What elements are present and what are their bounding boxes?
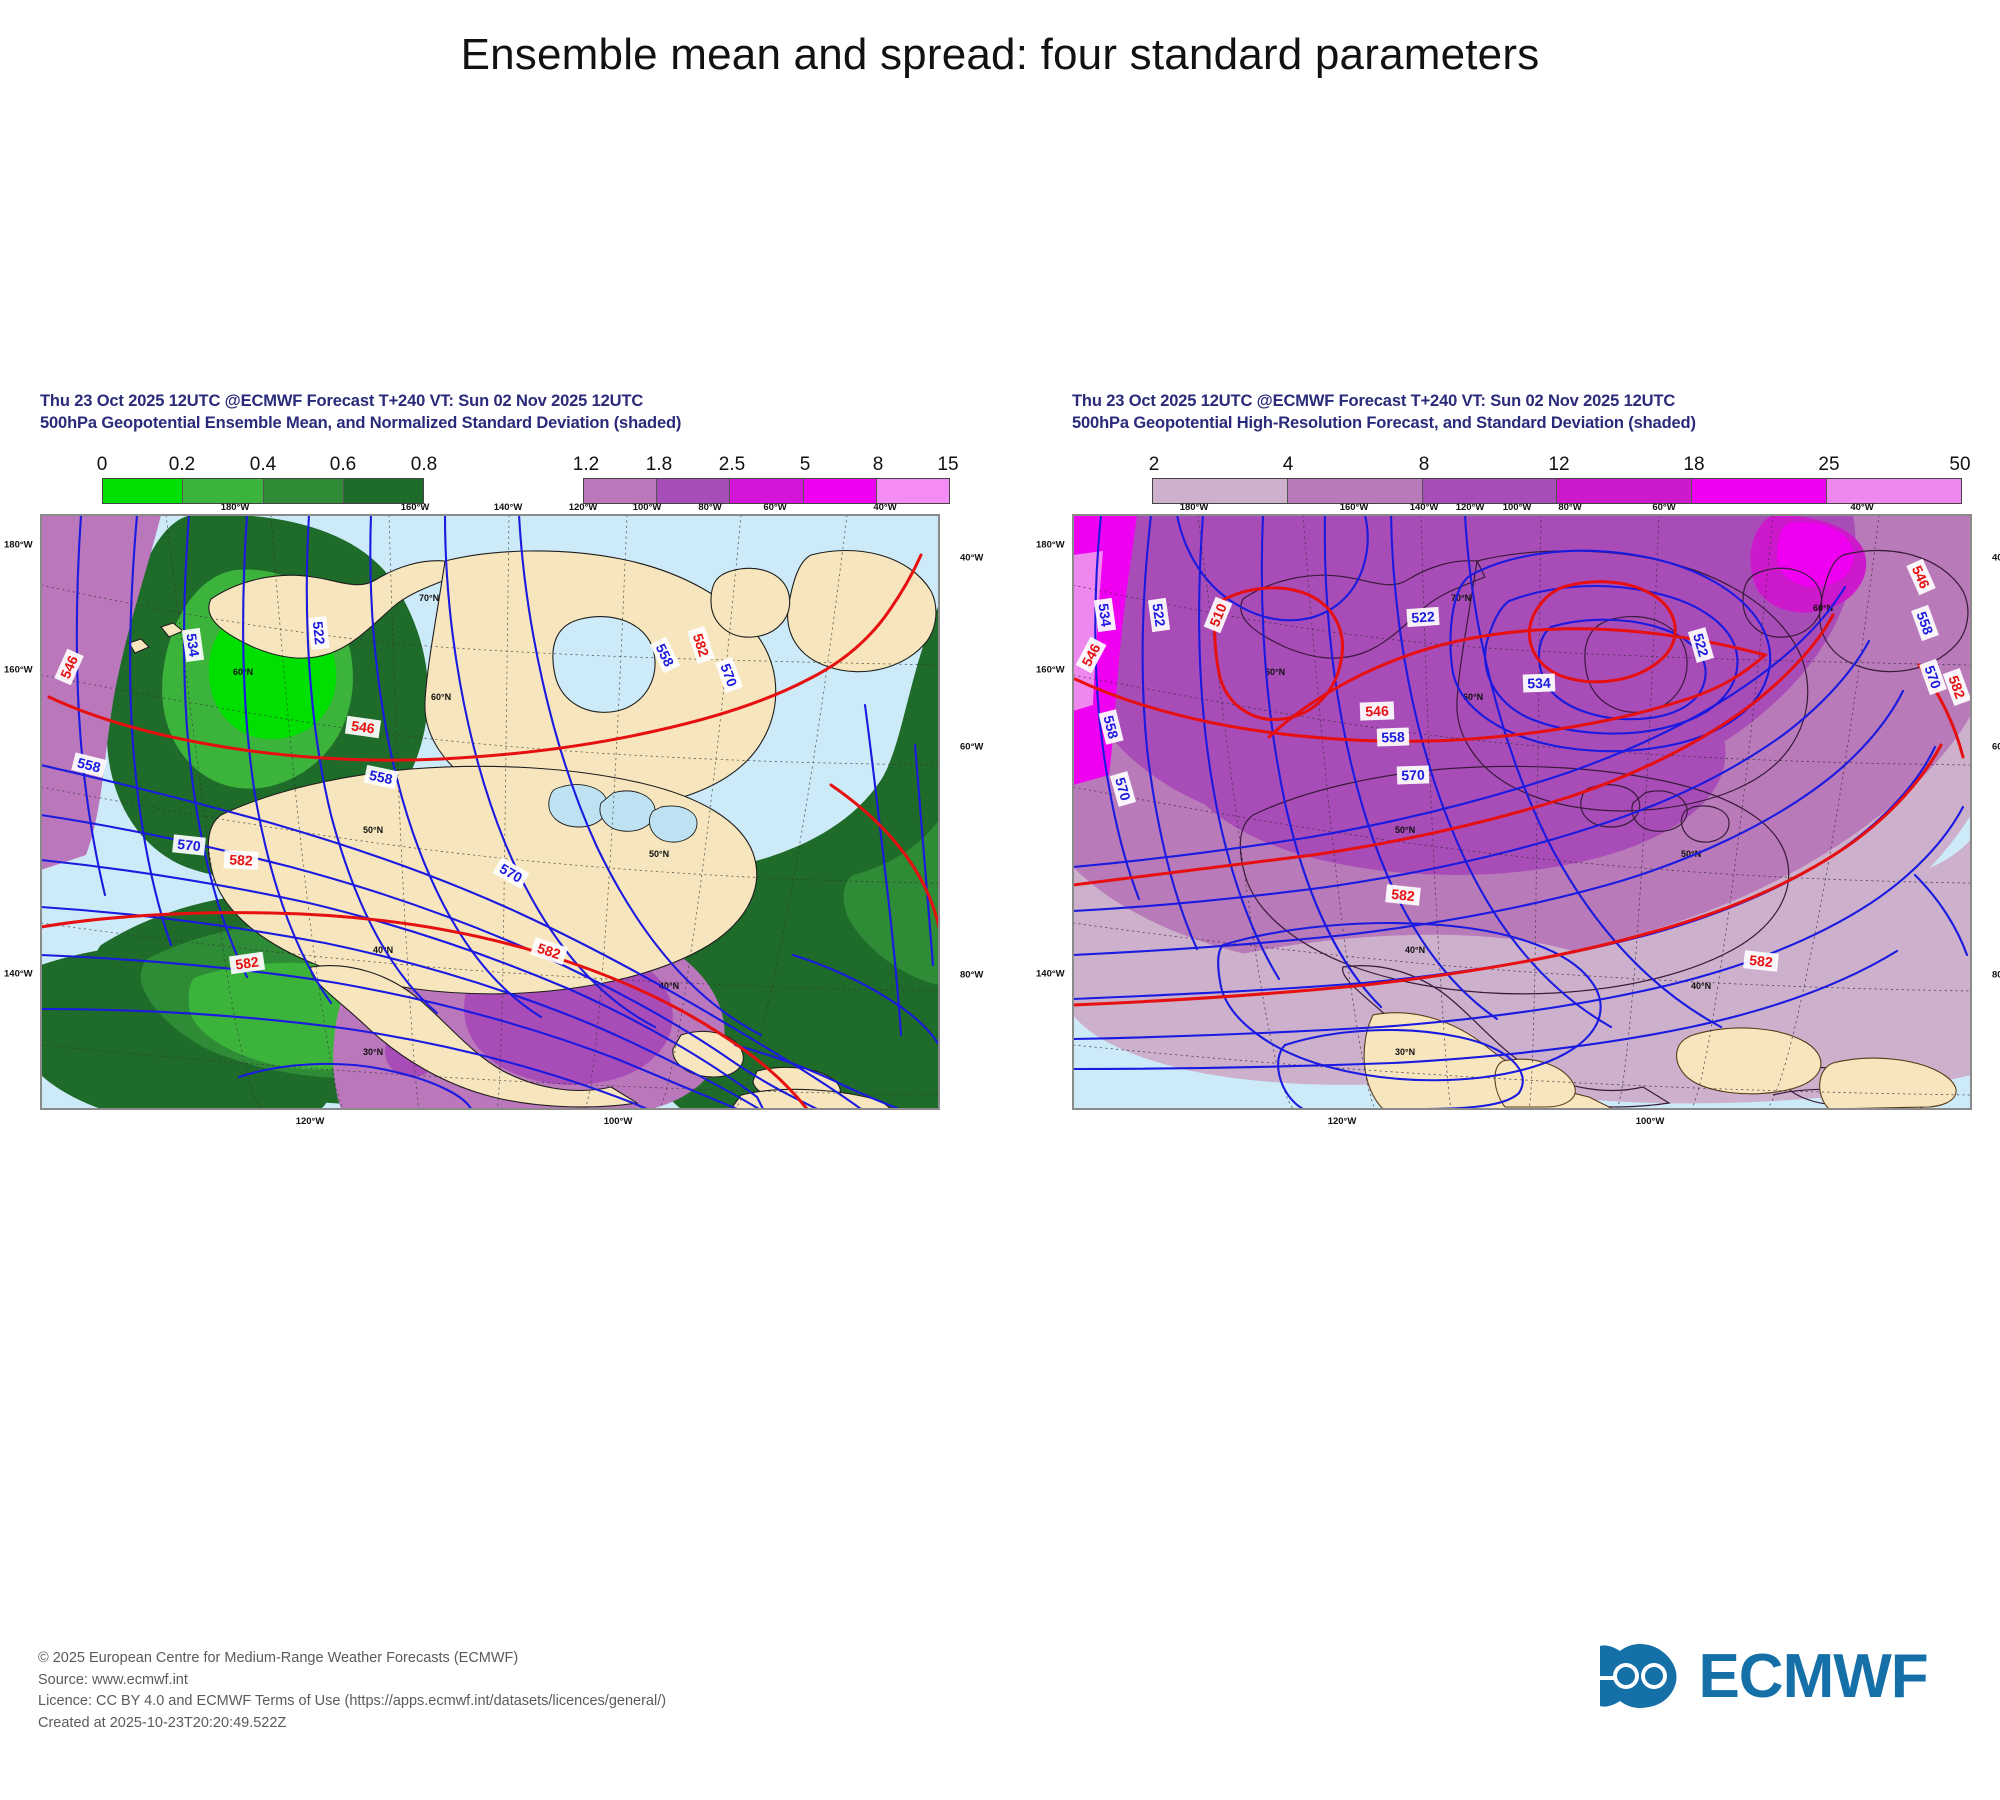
- footer-licence: Licence: CC BY 4.0 and ECMWF Terms of Us…: [38, 1691, 666, 1713]
- colorbar-tick: 1.8: [646, 454, 672, 476]
- contour-label-558: 558: [1377, 727, 1410, 746]
- lat-label: 30°N: [363, 1047, 383, 1057]
- svg-text:522: 522: [310, 621, 328, 646]
- svg-text:558: 558: [1381, 729, 1405, 746]
- colorbar-tick: 0.2: [169, 454, 195, 476]
- lat-label: 60°N: [1265, 667, 1285, 677]
- axis-label-top: 120°W: [1456, 502, 1485, 513]
- colorbar-tick: 15: [937, 454, 958, 476]
- axis-label-right: 40°W: [960, 553, 983, 564]
- footer-attribution: © 2025 European Centre for Medium-Range …: [38, 1648, 666, 1734]
- axis-label-right: 80°W: [1992, 970, 2000, 981]
- lat-label: 40°N: [1405, 945, 1425, 955]
- colorbar-cell: [344, 479, 423, 503]
- axis-label-top: 180°W: [221, 502, 250, 513]
- colorbar-tick: 5: [800, 454, 811, 476]
- colorbar-tick: 2: [1149, 454, 1160, 476]
- colorbar-tick: 1.2: [573, 454, 599, 476]
- panel-header-line1: Thu 23 Oct 2025 12UTC @ECMWF Forecast T+…: [40, 390, 681, 412]
- axis-label-left: 140°W: [1036, 969, 1065, 980]
- axis-label-top: 40°W: [1850, 502, 1873, 513]
- footer-copyright: © 2025 European Centre for Medium-Range …: [38, 1648, 666, 1670]
- svg-text:522: 522: [1149, 602, 1168, 628]
- colorbar-tick: 0.8: [411, 454, 437, 476]
- axis-label-left: 140°W: [4, 969, 33, 980]
- colorbar-cell: [1423, 479, 1558, 503]
- svg-text:546: 546: [350, 717, 376, 736]
- page-title: Ensemble mean and spread: four standard …: [0, 30, 2000, 80]
- colorbar-cell: [804, 479, 877, 503]
- colorbar-cell: [1557, 479, 1692, 503]
- axis-label-bottom: 120°W: [1328, 1116, 1357, 1127]
- colorbar-cell: [1288, 479, 1423, 503]
- axis-label-top: 160°W: [401, 502, 430, 513]
- axis-label-top: 60°W: [1652, 502, 1675, 513]
- colorbar-tick: 4: [1283, 454, 1294, 476]
- svg-text:534: 534: [1527, 675, 1551, 692]
- axis-label-left: 160°W: [1036, 665, 1065, 676]
- colorbar-tick: 25: [1818, 454, 1839, 476]
- colorbar-tick: 2.5: [719, 454, 745, 476]
- axis-label-bottom: 100°W: [1636, 1116, 1665, 1127]
- axis-label-bottom: 120°W: [296, 1116, 325, 1127]
- svg-text:522: 522: [1411, 608, 1436, 626]
- axis-label-top: 140°W: [494, 502, 523, 513]
- colorbar-cell: [183, 479, 263, 503]
- colorbar-cell: [1692, 479, 1827, 503]
- svg-text:582: 582: [1749, 952, 1774, 970]
- svg-text:582: 582: [1391, 886, 1416, 904]
- colorbar-tick: 0.6: [330, 454, 356, 476]
- contour-label-546: 546: [1360, 701, 1395, 720]
- lat-label: 50°N: [363, 825, 383, 835]
- lat-label: 70°N: [419, 593, 439, 603]
- axis-label-left: 180°W: [4, 540, 33, 551]
- axis-label-top: 100°W: [1503, 502, 1532, 513]
- footer-created-at: Created at 2025-10-23T20:20:49.522Z: [38, 1713, 666, 1735]
- svg-text:582: 582: [229, 851, 253, 868]
- svg-text:570: 570: [177, 836, 202, 854]
- contour-label-582: 582: [224, 850, 259, 870]
- axis-label-right: 40°W: [1992, 553, 2000, 564]
- contour-label-582: 582: [1385, 884, 1421, 905]
- axis-label-left: 160°W: [4, 665, 33, 676]
- colorbar-cell: [584, 479, 657, 503]
- footer-source: Source: www.ecmwf.int: [38, 1670, 666, 1692]
- contour-label-582: 582: [1743, 950, 1779, 971]
- colorbar-cell: [877, 479, 949, 503]
- colorbar-cell: [103, 479, 183, 503]
- axis-label-top: 60°W: [763, 502, 786, 513]
- colorbar-tick: 12: [1548, 454, 1569, 476]
- axis-label-top: 100°W: [633, 502, 662, 513]
- colorbar-tick: 8: [1419, 454, 1430, 476]
- axis-label-bottom: 100°W: [604, 1116, 633, 1127]
- panel-header-line2: 500hPa Geopotential High-Resolution Fore…: [1072, 412, 1696, 434]
- lat-label: 50°N: [649, 849, 669, 859]
- lat-label: 50°N: [1395, 825, 1415, 835]
- colorbar-tick: 0: [97, 454, 108, 476]
- colorbar-magenta-high-spread[interactable]: [583, 478, 950, 504]
- colorbar-cell: [264, 479, 344, 503]
- axis-label-top: 40°W: [873, 502, 896, 513]
- axis-label-left: 180°W: [1036, 540, 1065, 551]
- colorbar-std-dev-scale[interactable]: [1152, 478, 1962, 504]
- lat-label: 40°N: [1691, 981, 1711, 991]
- axis-label-right: 60°W: [960, 742, 983, 753]
- ecmwf-globe-icon: [1592, 1640, 1688, 1712]
- axis-label-top: 180°W: [1180, 502, 1209, 513]
- colorbar-cell: [657, 479, 730, 503]
- contour-label-534: 534: [1523, 673, 1556, 692]
- colorbar-row-right: 2 4 8 12 18 25 50: [1072, 456, 1972, 508]
- colorbar-tick: 18: [1683, 454, 1704, 476]
- svg-text:534: 534: [183, 632, 202, 658]
- contour-label-570: 570: [1397, 765, 1430, 784]
- axis-label-top: 140°W: [1410, 502, 1439, 513]
- lat-label: 60°N: [431, 692, 451, 702]
- panel-header-line1: Thu 23 Oct 2025 12UTC @ECMWF Forecast T+…: [1072, 390, 1696, 412]
- colorbar-cell: [1153, 479, 1288, 503]
- contour-label-570: 570: [172, 834, 206, 855]
- panel-ensemble-mean: Thu 23 Oct 2025 12UTC @ECMWF Forecast T+…: [40, 390, 681, 434]
- axis-label-top: 80°W: [698, 502, 721, 513]
- map-ensemble-mean[interactable]: 70°N 60°N 60°N 50°N 40°N 30°N 50°N 40°N: [40, 514, 940, 1110]
- colorbar-tick: 8: [873, 454, 884, 476]
- colorbar-row-left: 0 0.2 0.4 0.6 0.8 1.2 1.8 2.5 5 8 15: [40, 456, 940, 508]
- panel-high-resolution: Thu 23 Oct 2025 12UTC @ECMWF Forecast T+…: [1072, 390, 1696, 434]
- panel-header-line2: 500hPa Geopotential Ensemble Mean, and N…: [40, 412, 681, 434]
- colorbar-cell: [730, 479, 803, 503]
- axis-label-top: 160°W: [1340, 502, 1369, 513]
- lat-label: 30°N: [1395, 1047, 1415, 1057]
- stddev-shading-layer: [1073, 515, 1971, 1103]
- colorbar-green-low-spread[interactable]: [102, 478, 424, 504]
- ecmwf-logo: ECMWF: [1592, 1640, 1928, 1712]
- map-high-resolution[interactable]: 70°N 60°N 60°N 50°N 40°N 30°N 50°N 40°N …: [1072, 514, 1972, 1110]
- svg-text:582: 582: [234, 953, 260, 972]
- axis-label-right: 80°W: [960, 970, 983, 981]
- axis-label-top: 120°W: [569, 502, 598, 513]
- svg-text:570: 570: [1401, 767, 1425, 784]
- axis-label-top: 80°W: [1558, 502, 1581, 513]
- ecmwf-wordmark: ECMWF: [1698, 1641, 1927, 1712]
- svg-text:534: 534: [1095, 602, 1114, 628]
- contour-label-522: 522: [1406, 607, 1439, 627]
- colorbar-tick: 50: [1949, 454, 1970, 476]
- svg-text:546: 546: [1365, 703, 1389, 720]
- colorbar-cell: [1827, 479, 1961, 503]
- contour-label-522: 522: [308, 616, 329, 650]
- axis-label-right: 60°W: [1992, 742, 2000, 753]
- colorbar-tick: 0.4: [250, 454, 276, 476]
